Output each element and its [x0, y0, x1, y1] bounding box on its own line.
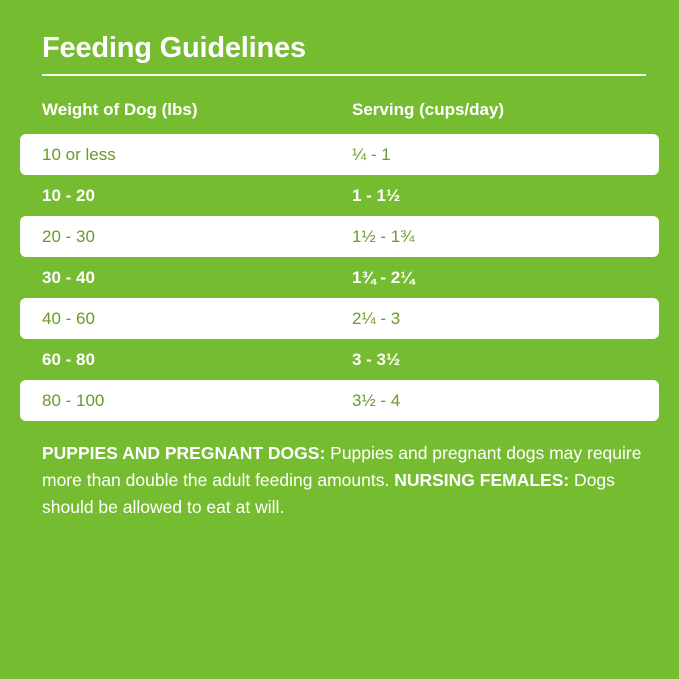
cell-weight: 60 - 80: [42, 339, 95, 380]
note-lead-puppies: PUPPIES AND PREGNANT DOGS:: [42, 443, 325, 463]
table-column-headers: Weight of Dog (lbs) Serving (cups/day): [0, 100, 679, 126]
cell-weight: 10 or less: [42, 134, 116, 175]
cell-weight: 10 - 20: [42, 175, 95, 216]
cell-serving: 1½ - 1¾: [352, 216, 414, 257]
table-row: 60 - 80 3 - 3½: [20, 339, 659, 380]
table-row: 40 - 60 2¼ - 3: [20, 298, 659, 339]
cell-serving: 1 - 1½: [352, 175, 400, 216]
cell-serving: 1¾ - 2¼: [352, 257, 414, 298]
table-row: 10 or less ¼ - 1: [20, 134, 659, 175]
feeding-note: PUPPIES AND PREGNANT DOGS: Puppies and p…: [42, 440, 642, 521]
column-header-weight: Weight of Dog (lbs): [42, 100, 198, 120]
cell-serving: ¼ - 1: [352, 134, 391, 175]
cell-weight: 40 - 60: [42, 298, 95, 339]
feeding-table: 10 or less ¼ - 1 10 - 20 1 - 1½ 20 - 30 …: [0, 134, 679, 421]
cell-serving: 3 - 3½: [352, 339, 400, 380]
cell-weight: 30 - 40: [42, 257, 95, 298]
cell-weight: 80 - 100: [42, 380, 104, 421]
column-header-serving: Serving (cups/day): [352, 100, 504, 120]
table-row: 20 - 30 1½ - 1¾: [20, 216, 659, 257]
page-title: Feeding Guidelines: [42, 31, 306, 65]
table-row: 30 - 40 1¾ - 2¼: [20, 257, 659, 298]
title-divider: [42, 74, 646, 76]
cell-serving: 3½ - 4: [352, 380, 400, 421]
note-lead-nursing: NURSING FEMALES:: [394, 470, 569, 490]
feeding-guidelines-panel: Feeding Guidelines Weight of Dog (lbs) S…: [0, 0, 679, 679]
table-row: 80 - 100 3½ - 4: [20, 380, 659, 421]
cell-serving: 2¼ - 3: [352, 298, 400, 339]
cell-weight: 20 - 30: [42, 216, 95, 257]
table-row: 10 - 20 1 - 1½: [20, 175, 659, 216]
